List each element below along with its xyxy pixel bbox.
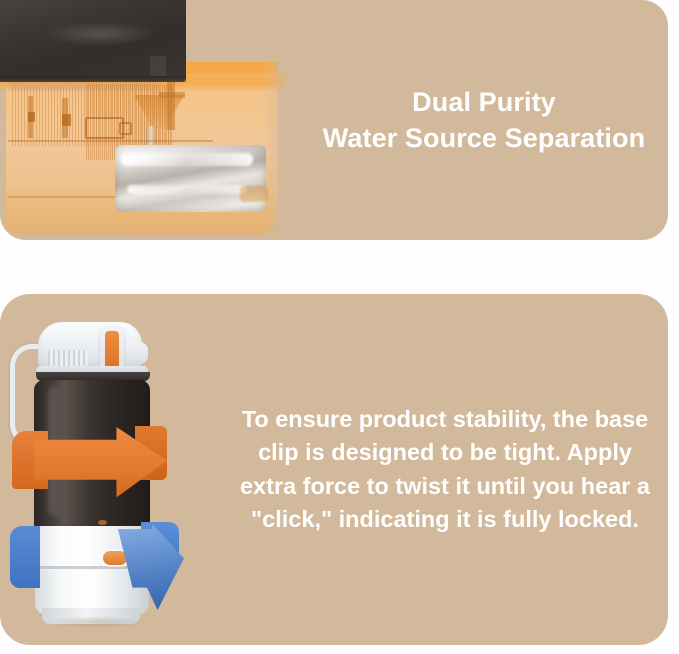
image-right-fade bbox=[262, 0, 296, 240]
page-title: Dual Purity Water Source Separation bbox=[323, 84, 645, 156]
body-indicator-dot bbox=[98, 520, 107, 525]
internal-strut bbox=[28, 112, 35, 122]
dual-purity-panel: Dual Purity Water Source Separation bbox=[0, 0, 668, 240]
base-release-button bbox=[103, 551, 127, 565]
base-clip-text-block: To ensure product stability, the base cl… bbox=[222, 294, 668, 645]
internal-shelf bbox=[8, 140, 213, 142]
dark-cap bbox=[0, 0, 186, 82]
base-clip-panel: To ensure product stability, the base cl… bbox=[0, 294, 668, 645]
heading-line-1: Dual Purity bbox=[412, 87, 556, 117]
panel-corner-mask bbox=[0, 210, 30, 240]
bottle-spout bbox=[122, 342, 148, 364]
internal-strut bbox=[62, 114, 71, 126]
internal-port-outline bbox=[119, 122, 132, 135]
cap-notch bbox=[150, 56, 166, 76]
dual-purity-heading-block: Dual Purity Water Source Separation bbox=[300, 0, 668, 240]
blue-twist-band-left bbox=[10, 526, 40, 588]
lid-grip-ridges bbox=[48, 350, 88, 366]
bottle-image bbox=[4, 298, 226, 641]
heading-line-2: Water Source Separation bbox=[323, 123, 645, 153]
bottle-ground-shadow bbox=[44, 616, 148, 628]
instruction-text: To ensure product stability, the base cl… bbox=[230, 403, 660, 536]
water-bottle bbox=[4, 298, 226, 641]
filter-cutaway-image bbox=[0, 0, 296, 240]
page-root: Dual Purity Water Source Separation bbox=[0, 0, 679, 654]
